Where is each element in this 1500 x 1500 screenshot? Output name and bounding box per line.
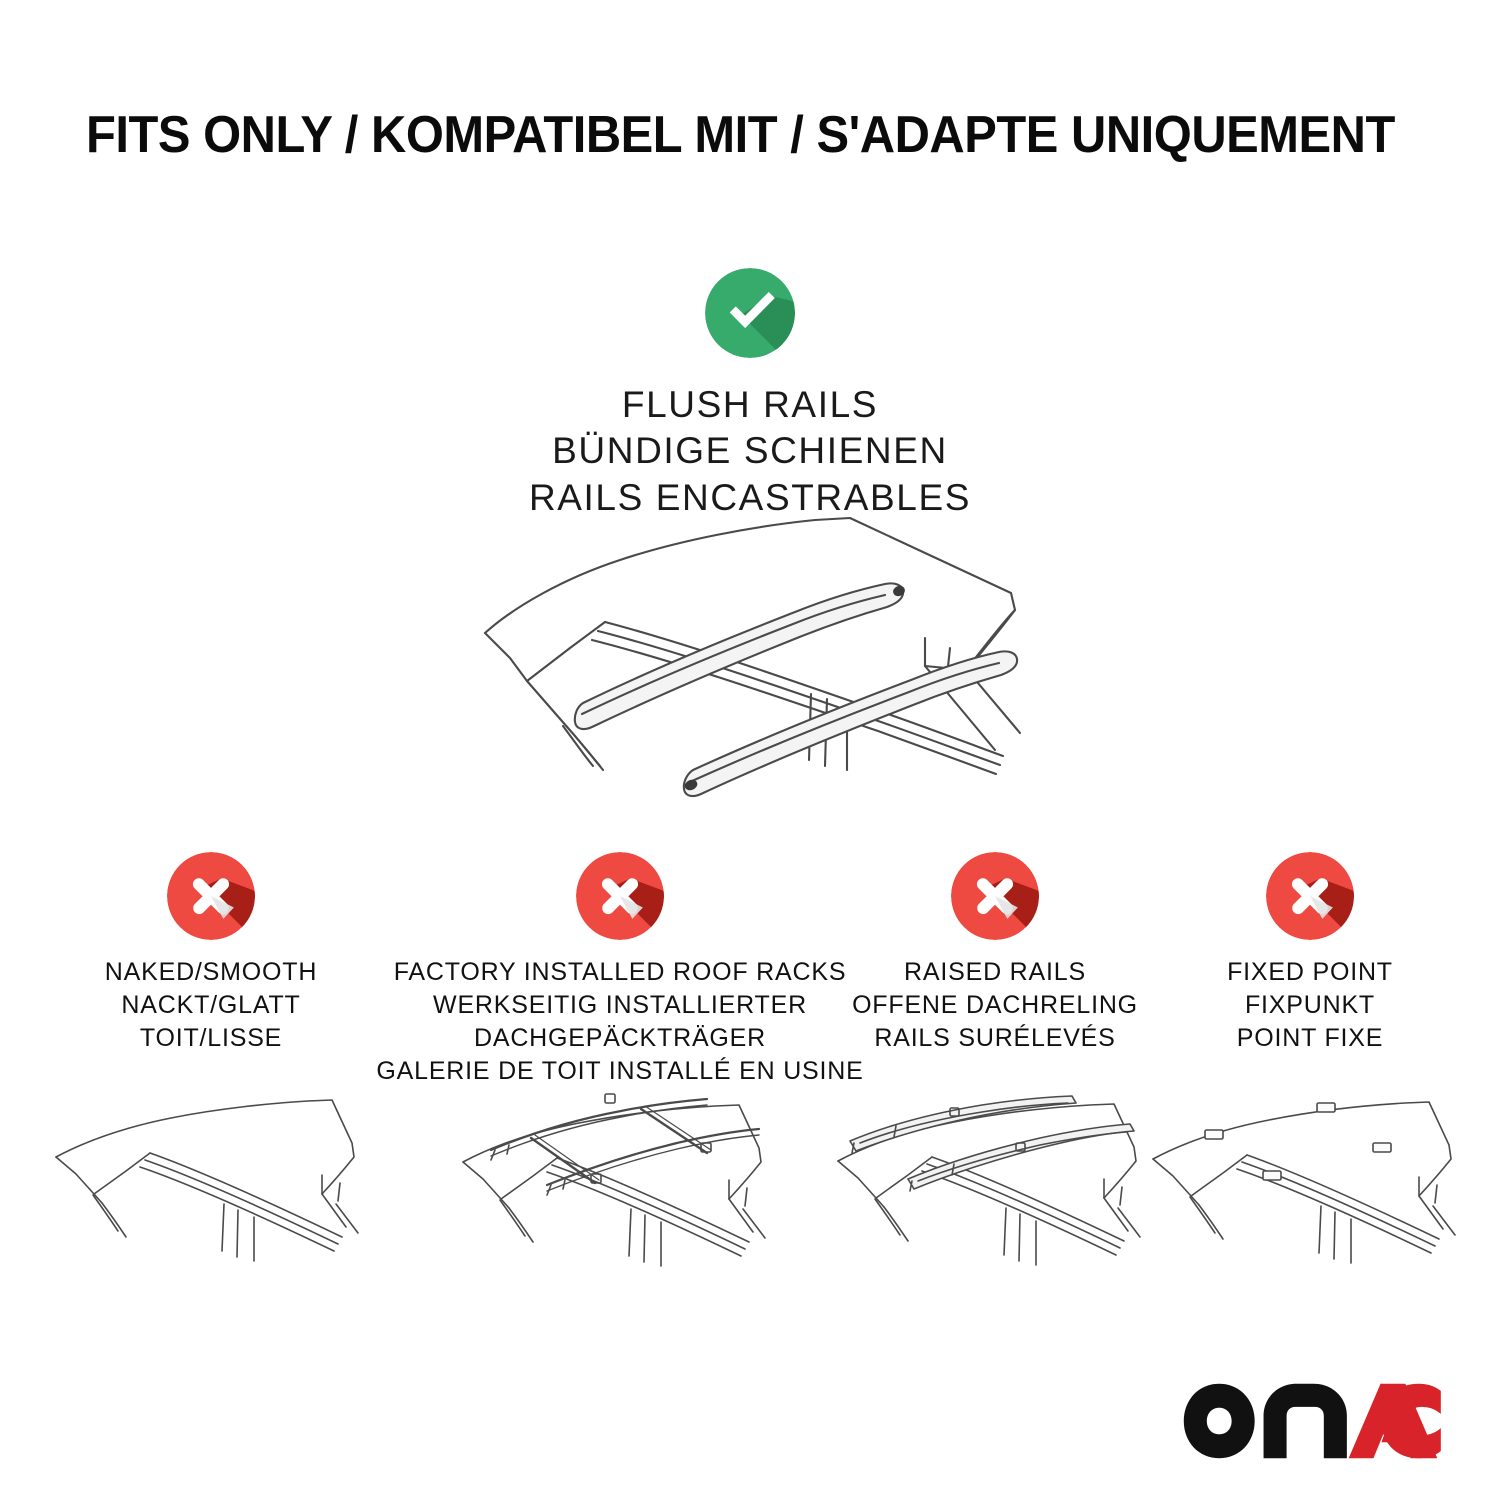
nofit-label-en: NAKED/SMOOTH xyxy=(105,956,317,989)
page-title: FITS ONLY / KOMPATIBEL MIT / S'ADAPTE UN… xyxy=(86,108,1346,163)
fits-section: FLUSH RAILS BÜNDIGE SCHIENEN RAILS ENCAS… xyxy=(0,268,1500,521)
fits-label-de: BÜNDIGE SCHIENEN xyxy=(529,428,971,474)
nofit-label-group: FIXED POINT FIXPUNKT POINT FIXE xyxy=(1227,956,1393,1055)
nofit-label-en: RAISED RAILS xyxy=(852,956,1138,989)
nofit-item-naked-smooth: NAKED/SMOOTH NACKT/GLATT TOIT/LISSE xyxy=(46,852,376,1284)
nofit-label-en: FACTORY INSTALLED ROOF RACKS xyxy=(376,956,863,989)
car-roof-raised-rails-illustration xyxy=(830,1091,1160,1306)
nofit-item-factory-roof-racks: FACTORY INSTALLED ROOF RACKS WERKSEITIG … xyxy=(455,852,785,1305)
nofit-item-fixed-point: FIXED POINT FIXPUNKT POINT FIXE xyxy=(1145,852,1475,1284)
nofit-label-fr: TOIT/LISSE xyxy=(105,1022,317,1055)
nofit-label-de: FIXPUNKT xyxy=(1227,989,1393,1022)
x-circle-icon xyxy=(576,852,664,940)
nofit-label-group: NAKED/SMOOTH NACKT/GLATT TOIT/LISSE xyxy=(105,956,317,1055)
nofit-label-group: RAISED RAILS OFFENE DACHRELING RAILS SUR… xyxy=(852,956,1138,1055)
x-circle-icon xyxy=(167,852,255,940)
nofit-label-de-1: WERKSEITIG INSTALLIERTER xyxy=(376,989,863,1022)
omac-logo-letter-m xyxy=(1264,1384,1347,1458)
does-not-fit-section: NAKED/SMOOTH NACKT/GLATT TOIT/LISSE xyxy=(0,852,1500,1452)
nofit-label-fr: RAILS SURÉLEVÉS xyxy=(852,1022,1138,1055)
nofit-label-fr: GALERIE DE TOIT INSTALLÉ EN USINE xyxy=(376,1055,863,1088)
car-roof-fixed-point-illustration xyxy=(1145,1091,1475,1306)
nofit-label-fr: POINT FIXE xyxy=(1227,1022,1393,1055)
nofit-label-de: NACKT/GLATT xyxy=(105,989,317,1022)
nofit-label-en: FIXED POINT xyxy=(1227,956,1393,989)
nofit-label-de: OFFENE DACHRELING xyxy=(852,989,1138,1022)
check-circle-icon xyxy=(705,268,795,358)
omac-logo xyxy=(1182,1382,1448,1460)
nofit-item-raised-rails: RAISED RAILS OFFENE DACHRELING RAILS SUR… xyxy=(830,852,1160,1284)
omac-logo-letter-o xyxy=(1184,1384,1255,1458)
car-roof-factory-roof-racks-illustration xyxy=(455,1090,785,1305)
car-roof-naked-smooth-illustration xyxy=(46,1091,376,1306)
nofit-label-group: FACTORY INSTALLED ROOF RACKS WERKSEITIG … xyxy=(376,956,863,1088)
x-circle-icon xyxy=(951,852,1039,940)
x-circle-icon xyxy=(1266,852,1354,940)
fits-label-en: FLUSH RAILS xyxy=(529,382,971,428)
car-roof-flush-rails-illustration xyxy=(455,498,1055,798)
nofit-label-de-2: DACHGEPÄCKTRÄGER xyxy=(376,1022,863,1055)
